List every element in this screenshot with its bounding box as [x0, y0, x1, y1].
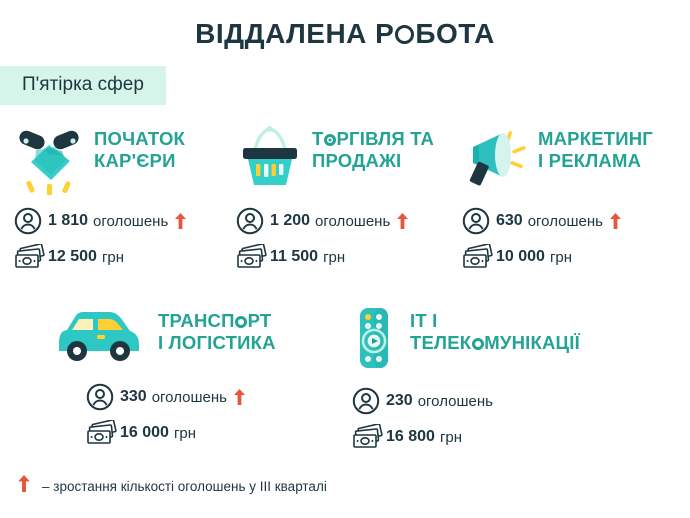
- up-arrow-icon: [610, 213, 621, 229]
- ads-count: 1 810: [48, 212, 88, 230]
- category-stats: 1 200 оголошень 11 500 грн: [236, 206, 464, 272]
- legend-note: – зростання кількості оголошень у III кв…: [42, 479, 327, 494]
- category-stats: 230 оголошень 16 800 грн: [352, 386, 632, 452]
- infographic-page: ВІДДАЛЕНА РБОТА П'ятірка сфер П: [0, 0, 690, 518]
- category-header: ТРГІВЛЯ ТАПРОДАЖІ: [236, 124, 464, 196]
- page-title-pre: ВІДДАЛЕНА Р: [195, 18, 394, 49]
- stat-row-ads: 630 оголошень: [462, 206, 688, 236]
- money-icon: [462, 242, 496, 272]
- category-stats: 630 оголошень 10 000 грн: [462, 206, 688, 272]
- category-header: ПОЧАТОККАР'ЄРИ: [14, 124, 239, 196]
- megaphone-icon: [462, 124, 530, 196]
- category-card-it-telecom: ІТ ІТЕЛЕКМУНІКАЦІЇ 230 оголошень 16 800 …: [352, 306, 632, 458]
- salary-unit: грн: [174, 425, 196, 442]
- ads-count: 1 200: [270, 212, 310, 230]
- up-arrow-icon: [234, 389, 245, 405]
- up-arrow-icon: [18, 475, 30, 497]
- category-title: ТРГІВЛЯ ТАПРОДАЖІ: [312, 124, 434, 172]
- category-header: МАРКЕТИНГІ РЕКЛАМА: [462, 124, 688, 196]
- up-arrow-icon: [175, 213, 186, 229]
- stat-row-ads: 230 оголошень: [352, 386, 632, 416]
- stat-row-ads: 1 200 оголошень: [236, 206, 464, 236]
- category-title-line1: МАРКЕТИНГ: [538, 128, 653, 149]
- category-card-start-career: ПОЧАТОККАР'ЄРИ 1 810 оголошень 12 500 гр…: [14, 124, 239, 278]
- category-title-line2: І РЕКЛАМА: [538, 150, 641, 171]
- money-icon: [352, 422, 386, 452]
- title-ring-o-icon: [324, 134, 336, 146]
- category-card-marketing-advertising: МАРКЕТИНГІ РЕКЛАМА 630 оголошень 10 000 …: [462, 124, 688, 278]
- stat-row-ads: 330 оголошень: [86, 382, 292, 412]
- category-title-line1-pre: ТРАНСП: [158, 310, 235, 331]
- ads-unit: оголошень: [93, 213, 168, 230]
- salary-amount: 11 500: [270, 248, 318, 266]
- salary-unit: грн: [440, 429, 462, 446]
- category-title-line1: ПОЧАТОК: [94, 128, 185, 149]
- money-icon: [86, 418, 120, 448]
- category-title-line1: РГІВЛЯ ТА: [337, 128, 435, 149]
- salary-amount: 12 500: [48, 248, 97, 266]
- ads-count: 330: [120, 388, 147, 406]
- legend: – зростання кількості оголошень у III кв…: [18, 475, 327, 497]
- category-title-line1: ІТ І: [410, 310, 438, 331]
- stat-row-salary: 10 000 грн: [462, 242, 688, 272]
- category-header: ІТ ІТЕЛЕКМУНІКАЦІЇ: [352, 306, 632, 370]
- ads-count: 630: [496, 212, 523, 230]
- category-stats: 1 810 оголошень 12 500 грн: [14, 206, 239, 272]
- person-icon: [14, 206, 48, 236]
- category-title-line2: І ЛОГІСТИКА: [158, 332, 276, 353]
- stat-row-salary: 16 000 грн: [86, 418, 292, 448]
- stat-row-salary: 12 500 грн: [14, 242, 239, 272]
- stat-row-salary: 16 800 грн: [352, 422, 632, 452]
- remote-control-icon: [352, 306, 398, 370]
- category-title-line2-pre: ТЕЛЕК: [410, 332, 471, 353]
- shopping-basket-icon: [236, 124, 304, 196]
- salary-unit: грн: [550, 249, 572, 266]
- salary-unit: грн: [323, 249, 345, 266]
- salary-unit: грн: [102, 249, 124, 266]
- category-stats: 330 оголошень 16 000 грн: [86, 382, 292, 448]
- stat-row-ads: 1 810 оголошень: [14, 206, 239, 236]
- car-icon: [52, 306, 144, 366]
- category-title-line2: МУНІКАЦІЇ: [484, 332, 580, 353]
- person-icon: [352, 386, 386, 416]
- salary-amount: 10 000: [496, 248, 545, 266]
- salary-amount: 16 000: [120, 424, 169, 442]
- money-icon: [236, 242, 270, 272]
- subtitle-badge: П'ятірка сфер: [0, 66, 166, 105]
- ads-count: 230: [386, 392, 413, 410]
- salary-amount: 16 800: [386, 428, 435, 446]
- category-title: ІТ ІТЕЛЕКМУНІКАЦІЇ: [410, 306, 580, 354]
- category-title-line2: ПРОДАЖІ: [312, 150, 401, 171]
- up-arrow-icon: [397, 213, 408, 229]
- ads-unit: оголошень: [315, 213, 390, 230]
- page-title: ВІДДАЛЕНА РБОТА: [0, 20, 690, 48]
- handshake-icon: [14, 124, 86, 196]
- ads-unit: оголошень: [528, 213, 603, 230]
- title-ring-o-icon: [235, 316, 247, 328]
- person-icon: [86, 382, 120, 412]
- category-title-line2: КАР'ЄРИ: [94, 150, 176, 171]
- ads-unit: оголошень: [152, 389, 227, 406]
- category-title: ПОЧАТОККАР'ЄРИ: [94, 124, 185, 172]
- money-icon: [14, 242, 48, 272]
- person-icon: [236, 206, 270, 236]
- category-title-line1: РТ: [248, 310, 272, 331]
- person-icon: [462, 206, 496, 236]
- title-ring-o-icon: [472, 338, 484, 350]
- category-title: ТРАНСПРТІ ЛОГІСТИКА: [158, 306, 276, 354]
- stat-row-salary: 11 500 грн: [236, 242, 464, 272]
- page-title-post: БОТА: [415, 18, 494, 49]
- ads-unit: оголошень: [418, 393, 493, 410]
- title-ring-o-icon: [395, 25, 414, 44]
- category-card-trade-sales: ТРГІВЛЯ ТАПРОДАЖІ 1 200 оголошень 11 500…: [236, 124, 464, 278]
- category-header: ТРАНСПРТІ ЛОГІСТИКА: [52, 306, 292, 366]
- category-title-line1-pre: Т: [312, 128, 324, 149]
- category-title: МАРКЕТИНГІ РЕКЛАМА: [538, 124, 653, 172]
- category-card-transport-logistics: ТРАНСПРТІ ЛОГІСТИКА 330 оголошень 16 000…: [52, 306, 292, 454]
